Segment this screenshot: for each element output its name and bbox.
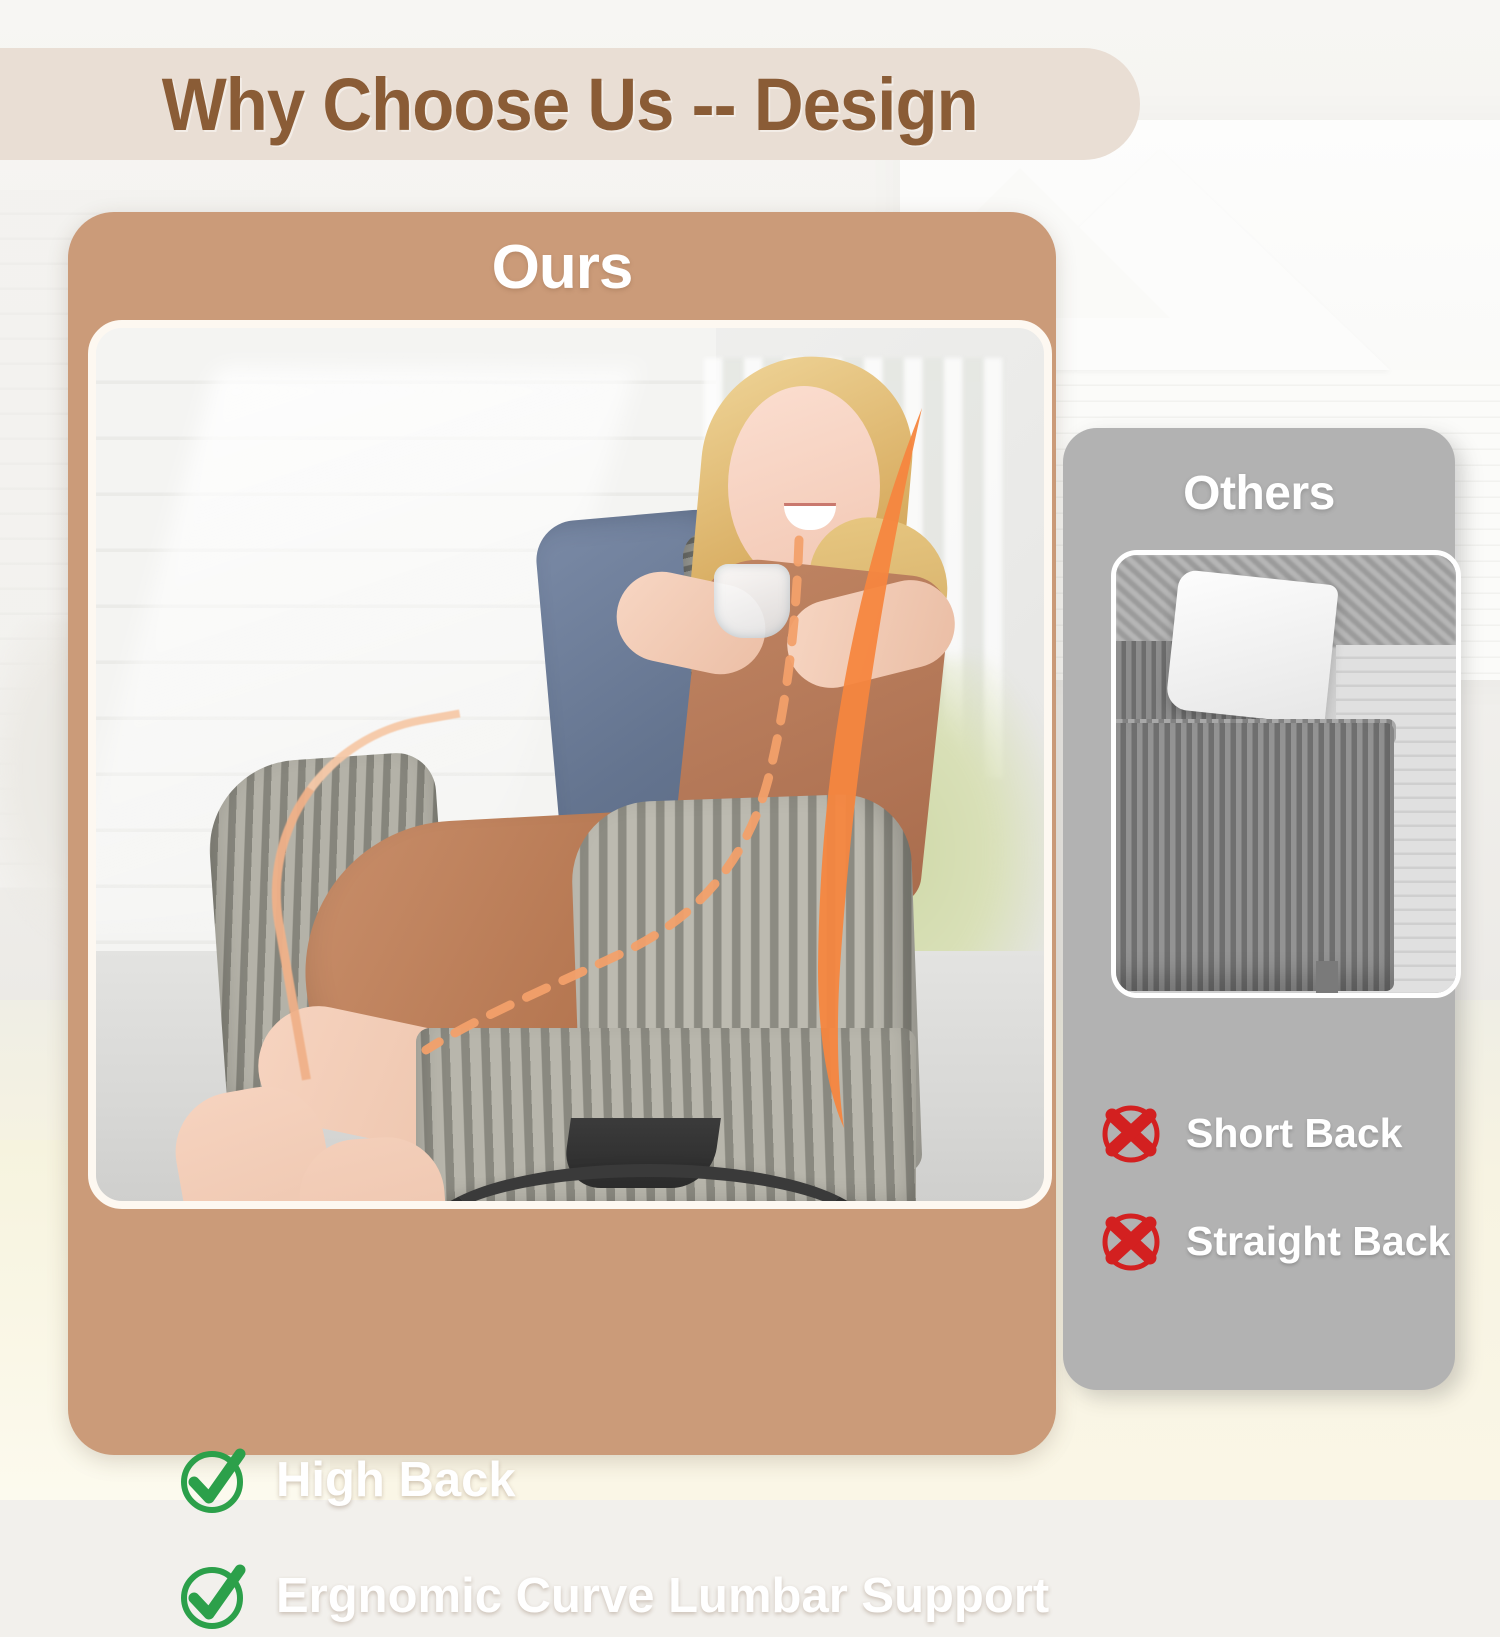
red-cross-circle-icon (1098, 1100, 1164, 1166)
ours-feature-row: High Back (176, 1444, 516, 1516)
others-panel-title: Others (1063, 466, 1455, 521)
others-sofa-cushion (1165, 569, 1339, 725)
red-cross-circle-icon (1098, 1208, 1164, 1274)
page-title-banner: Why Choose Us -- Design (0, 48, 1140, 160)
ours-panel-title: Ours (68, 232, 1056, 303)
ours-photo-scene (96, 328, 1044, 1201)
green-check-circle-icon (176, 1444, 248, 1516)
ours-product-photo (88, 320, 1052, 1209)
others-feature-row: Short Back (1098, 1100, 1402, 1166)
others-feature-label: Straight Back (1186, 1218, 1450, 1265)
others-feature-row: Straight Back (1098, 1208, 1450, 1274)
others-sofa-body (1111, 723, 1394, 991)
ours-panel: Ours (68, 212, 1056, 1455)
others-product-photo (1111, 550, 1461, 998)
back-curve-arc-accent (96, 328, 1044, 1201)
ours-feature-row: Ergnomic Curve Lumbar Support (176, 1560, 1049, 1632)
page-title: Why Choose Us -- Design (162, 62, 978, 147)
ours-feature-label: Ergnomic Curve Lumbar Support (276, 1568, 1049, 1624)
others-sofa-leg (1316, 961, 1338, 995)
others-feature-label: Short Back (1186, 1110, 1402, 1157)
green-check-circle-icon (176, 1560, 248, 1632)
